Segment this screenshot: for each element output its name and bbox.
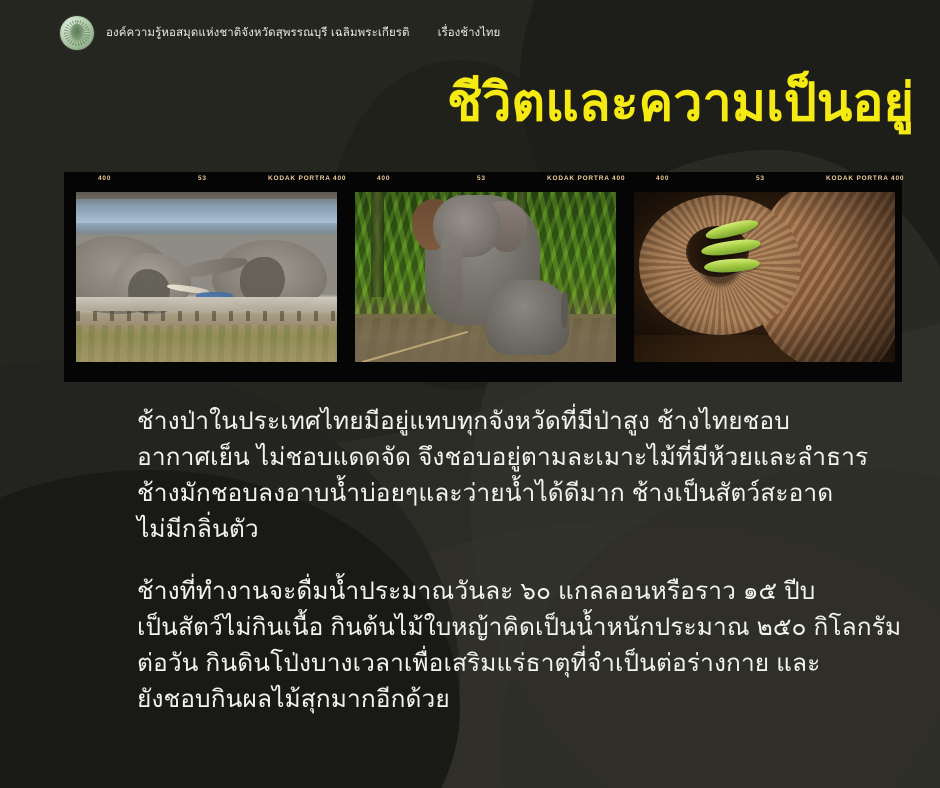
shore-debris <box>76 311 337 321</box>
presentation-slide: องค์ความรู้หอสมุดแห่งชาติจังหวัดสุพรรณบุ… <box>0 0 940 788</box>
paragraph-1-line-3: ช้างมักชอบลงอาบน้ำบ่อยๆและว่ายน้ำได้ดีมา… <box>137 476 857 512</box>
elephants-mud-bath-photo <box>76 192 337 362</box>
filmstrip-frames <box>76 192 895 362</box>
waterline <box>76 297 337 311</box>
mud-bath-scene <box>76 192 337 362</box>
page-title: ชีวิตและความเป็นอยู่ <box>447 74 914 134</box>
paragraph-2-line-2: เป็นสัตว์ไม่กินเนื้อ กินต้นไม้ใบหญ้าคิดเ… <box>137 610 857 646</box>
frame-2-iso-label: 400 <box>377 175 390 182</box>
paragraph-2: ช้างที่ทำงานจะดื่มน้ำประมาณวันละ ๖๐ แกลล… <box>137 574 857 718</box>
slide-body-text: ช้างป่าในประเทศไทยมีอยู่แทบทุกจังหวัดที่… <box>137 404 857 744</box>
frame-3-number-label: 53 <box>756 175 765 182</box>
frame-3-edge-markings: 400 53 KODAK PORTRA 400 <box>634 175 895 187</box>
paragraph-2-line-3: ต่อวัน กินดินโป่งบางเวลาเพื่อเสริมแร่ธาต… <box>137 646 857 682</box>
frame-2-edge-markings: 400 53 KODAK PORTRA 400 <box>355 175 616 187</box>
elephant-calf-tail <box>561 291 568 328</box>
tree-trunk-left <box>371 192 384 297</box>
slide-header: องค์ความรู้หอสมุดแห่งชาติจังหวัดสุพรรณบุ… <box>60 16 500 50</box>
mother-elephant-trunk <box>441 236 462 318</box>
photo-filmstrip: 400 53 KODAK PORTRA 400 400 53 KODAK POR… <box>64 172 902 382</box>
paragraph-1-line-4: ไม่มีกลิ่นตัว <box>137 512 857 548</box>
paragraph-1-line-1: ช้างป่าในประเทศไทยมีอยู่แทบทุกจังหวัดที่… <box>137 404 857 440</box>
photo-vignette <box>634 192 895 362</box>
paragraph-1-line-2: อากาศเย็น ไม่ชอบแดดจัด จึงชอบอยู่ตามละเม… <box>137 440 857 476</box>
elephant-calf <box>486 280 570 355</box>
header-subject-label: เรื่องช้างไทย <box>438 24 501 42</box>
frame-1-iso-label: 400 <box>98 175 111 182</box>
frame-1-brand-label: KODAK PORTRA 400 <box>268 175 346 182</box>
frame-1-edge-markings: 400 53 KODAK PORTRA 400 <box>76 175 337 187</box>
seal-center-icon <box>69 24 85 42</box>
mother-elephant-and-calf-photo <box>355 192 616 362</box>
national-library-seal-logo <box>60 16 94 50</box>
trunk-closeup-scene <box>634 192 895 362</box>
frame-1-number-label: 53 <box>198 175 207 182</box>
water-sky-reflection <box>76 199 337 223</box>
elephant-trunk-holding-bananas-photo <box>634 192 895 362</box>
header-organization-label: องค์ความรู้หอสมุดแห่งชาติจังหวัดสุพรรณบุ… <box>106 24 410 42</box>
paragraph-2-line-4: ยังชอบกินผลไม้สุกมากอีกด้วย <box>137 682 857 718</box>
frame-3-brand-label: KODAK PORTRA 400 <box>826 175 904 182</box>
foreground-grass <box>76 325 337 362</box>
paragraph-1: ช้างป่าในประเทศไทยมีอยู่แทบทุกจังหวัดที่… <box>137 404 857 548</box>
frame-2-brand-label: KODAK PORTRA 400 <box>547 175 625 182</box>
frame-2-number-label: 53 <box>477 175 486 182</box>
paragraph-2-line-1: ช้างที่ทำงานจะดื่มน้ำประมาณวันละ ๖๐ แกลล… <box>137 574 857 610</box>
jungle-scene <box>355 192 616 362</box>
frame-3-iso-label: 400 <box>656 175 669 182</box>
filmstrip-edge-markings: 400 53 KODAK PORTRA 400 400 53 KODAK POR… <box>64 172 902 190</box>
